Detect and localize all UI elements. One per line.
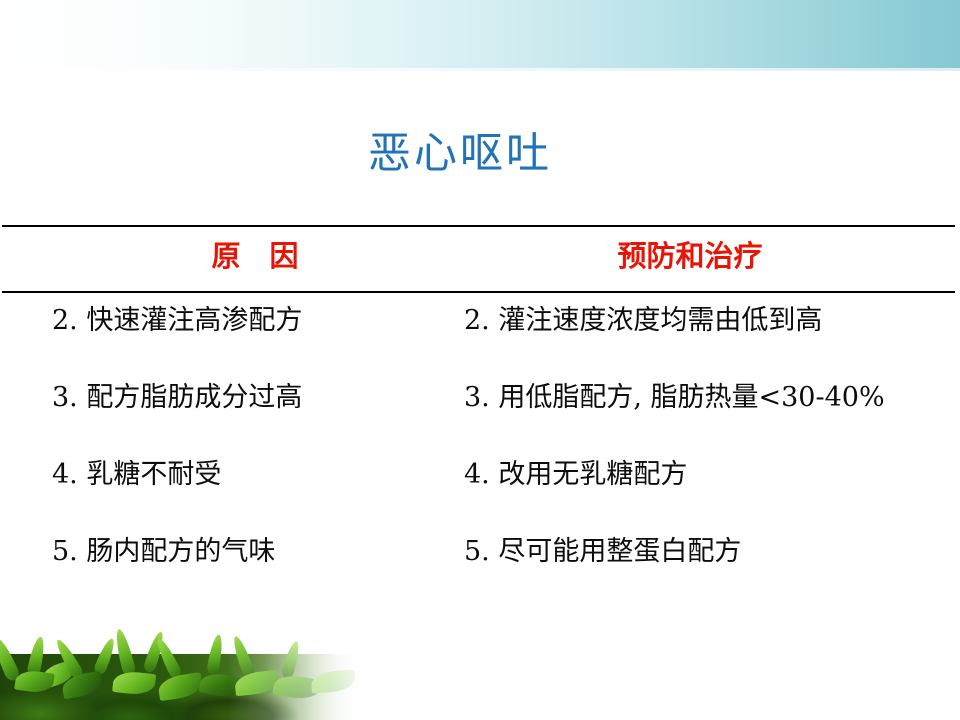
table-header-rule	[2, 291, 955, 293]
cell-treatment: 3. 用低脂配方, 脂肪热量<30-40%	[464, 377, 885, 419]
cell-cause: 4. 乳糖不耐受	[52, 454, 221, 496]
foliage-decoration-image	[0, 628, 368, 720]
cell-cause: 2. 快速灌注高渗配方	[52, 300, 302, 342]
cell-treatment: 2. 灌注速度浓度均需由低到高	[464, 300, 822, 342]
column-header-cause: 原 因	[110, 238, 400, 274]
table-row: 4. 乳糖不耐受 4. 改用无乳糖配方	[0, 454, 960, 531]
header-band-shadow	[0, 68, 960, 71]
slide-canvas: 恶心呕吐 原 因 预防和治疗 2. 快速灌注高渗配方 2. 灌注速度浓度均需由低…	[0, 0, 960, 720]
table-row: 2. 快速灌注高渗配方 2. 灌注速度浓度均需由低到高	[0, 300, 960, 377]
cell-cause: 3. 配方脂肪成分过高	[52, 377, 302, 419]
cell-treatment: 5. 尽可能用整蛋白配方	[464, 531, 741, 573]
page-title: 恶心呕吐	[0, 128, 920, 180]
table-body: 2. 快速灌注高渗配方 2. 灌注速度浓度均需由低到高 3. 配方脂肪成分过高 …	[0, 300, 960, 608]
table-row: 3. 配方脂肪成分过高 3. 用低脂配方, 脂肪热量<30-40%	[0, 377, 960, 454]
column-header-treatment: 预防和治疗	[560, 238, 820, 274]
header-gradient-band	[0, 0, 960, 68]
cell-treatment: 4. 改用无乳糖配方	[464, 454, 687, 496]
cell-cause: 5. 肠内配方的气味	[52, 531, 275, 573]
table-top-rule	[2, 225, 955, 227]
table-row: 5. 肠内配方的气味 5. 尽可能用整蛋白配方	[0, 531, 960, 608]
